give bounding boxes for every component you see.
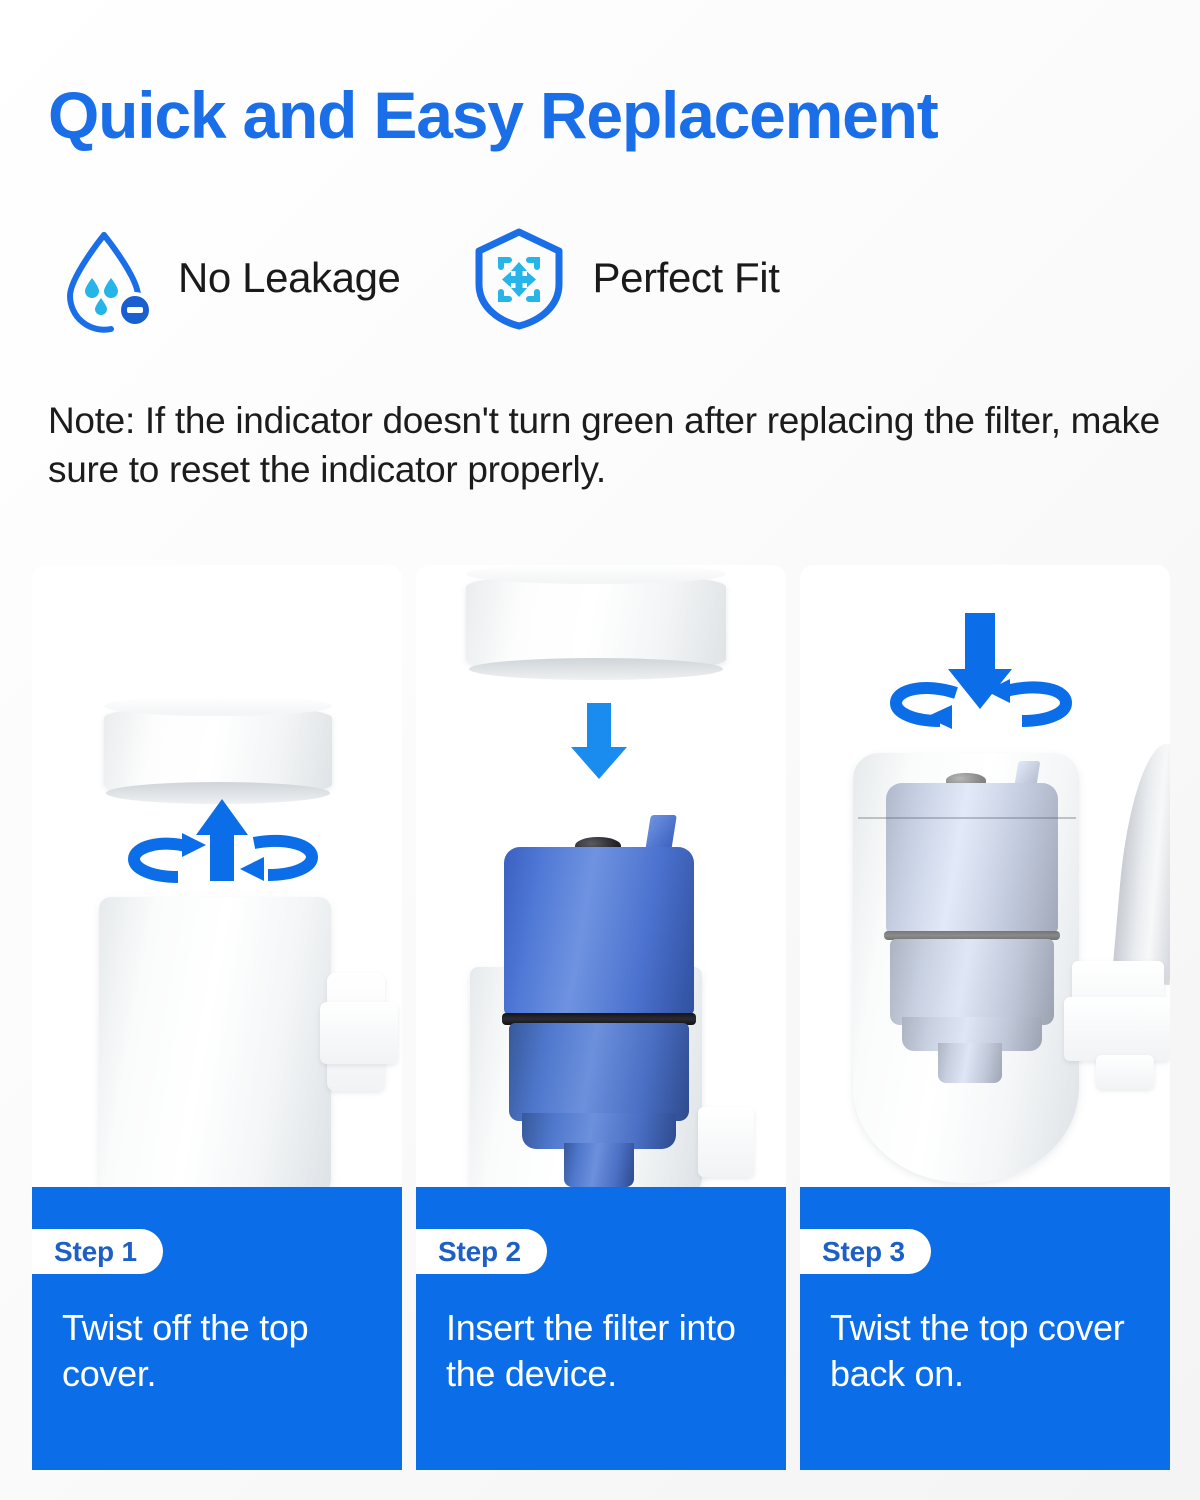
faucet-adapter-band — [1064, 997, 1170, 1061]
step-1-illustration — [32, 565, 402, 1187]
step-3-illustration — [800, 565, 1170, 1187]
step-caption-text: Twist off the top cover. — [62, 1305, 388, 1397]
faucet-adapter-collar — [320, 1002, 398, 1064]
feature-label: No Leakage — [178, 254, 401, 302]
filter-ghost-overlay — [800, 565, 1170, 1187]
step-1-caption: Step 1 Twist off the top cover. — [32, 1187, 402, 1470]
top-cover-part — [466, 573, 726, 673]
step-badge-label: Step 2 — [438, 1238, 521, 1266]
filter-cartridge-lower — [509, 1023, 689, 1121]
top-cover-part — [104, 705, 332, 797]
step-badge: Step 2 — [416, 1229, 547, 1274]
water-drop-no-leak-icon — [48, 222, 160, 334]
feature-label: Perfect Fit — [593, 254, 780, 302]
page-title: Quick and Easy Replacement — [48, 82, 938, 148]
step-caption-text: Insert the filter into the device. — [446, 1305, 772, 1397]
step-2-caption: Step 2 Insert the filter into the device… — [416, 1187, 786, 1470]
faucet-adapter-nut — [1096, 1055, 1154, 1089]
step-badge-label: Step 3 — [822, 1238, 905, 1266]
filter-outlet-stem-ghost — [938, 1043, 1002, 1083]
housing-seam-line — [858, 817, 1076, 819]
twist-off-arrows — [82, 795, 362, 895]
step-caption-text: Twist the top cover back on. — [830, 1305, 1156, 1397]
filter-cartridge-upper — [504, 847, 694, 1015]
filter-cartridge-lower-ghost — [890, 939, 1054, 1025]
filter-housing-body — [99, 897, 331, 1187]
step-card-1[interactable]: Step 1 Twist off the top cover. — [32, 565, 402, 1470]
faucet-adapter — [698, 1107, 754, 1177]
step-card-3[interactable]: Step 3 Twist the top cover back on. — [800, 565, 1170, 1470]
feature-no-leakage: No Leakage — [48, 222, 401, 334]
filter-key-tab — [645, 815, 677, 851]
step-2-illustration — [416, 565, 786, 1187]
infographic-page: Quick and Easy Replacement No Leakage — [0, 0, 1200, 1500]
feature-list: No Leakage — [48, 222, 780, 334]
filter-cartridge-upper-ghost — [886, 783, 1058, 933]
steps-row: Step 1 Twist off the top cover. — [32, 565, 1170, 1470]
step-badge-label: Step 1 — [54, 1238, 137, 1266]
feature-perfect-fit: Perfect Fit — [463, 222, 780, 334]
shield-perfect-fit-icon — [463, 222, 575, 334]
step-badge: Step 1 — [32, 1229, 163, 1274]
step-badge: Step 3 — [800, 1229, 931, 1274]
note-text: Note: If the indicator doesn't turn gree… — [48, 396, 1163, 494]
insert-down-arrow — [564, 703, 634, 779]
filter-outlet-stem — [564, 1143, 634, 1187]
step-card-2[interactable]: Step 2 Insert the filter into the device… — [416, 565, 786, 1470]
step-3-caption: Step 3 Twist the top cover back on. — [800, 1187, 1170, 1470]
